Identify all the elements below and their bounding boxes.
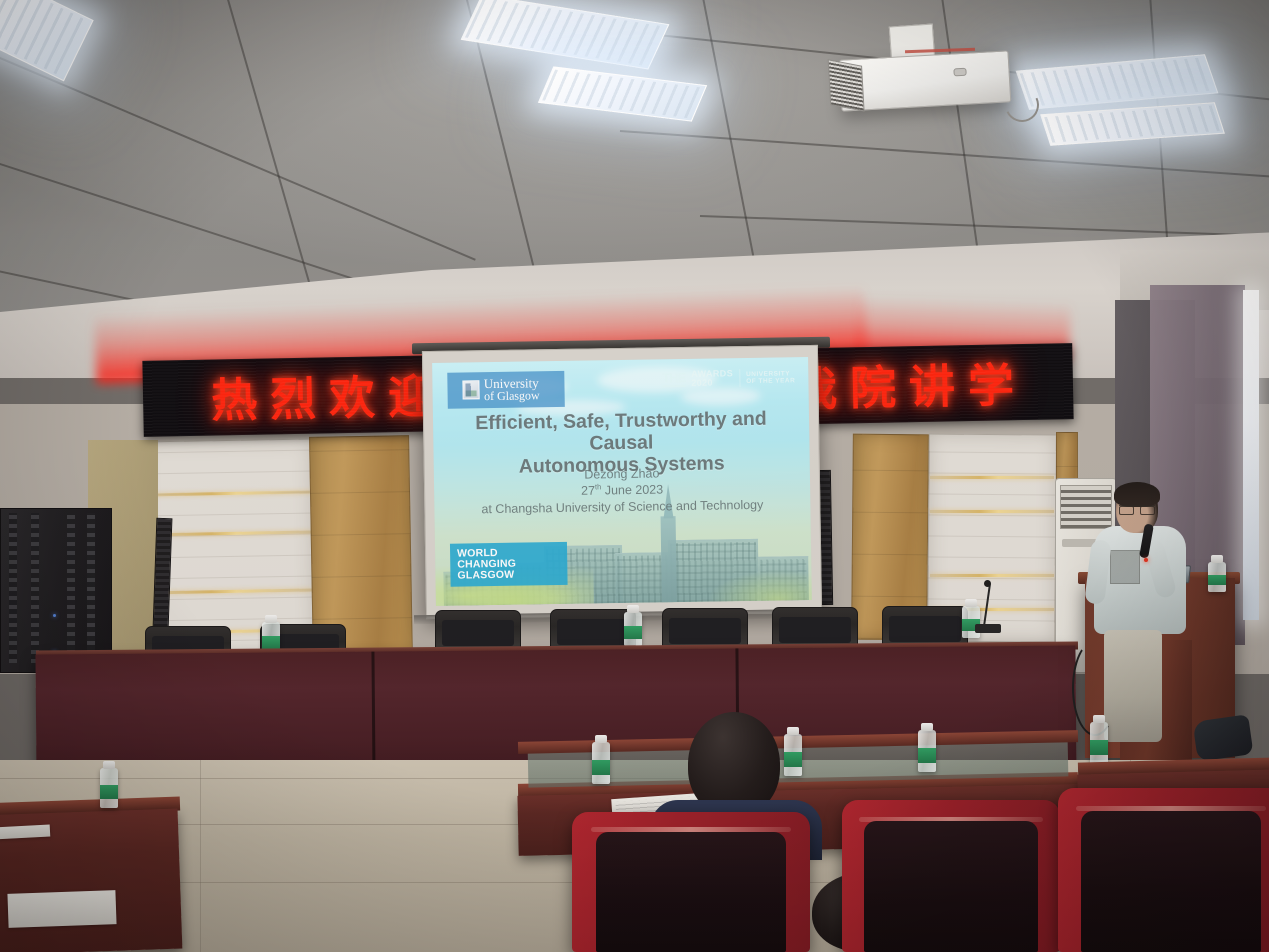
glasgow-crest-icon: [462, 381, 479, 400]
world-changing-glasgow-badge: WORLD CHANGING GLASGOW: [450, 542, 567, 587]
bottle-label: [918, 748, 936, 763]
bottle-cap: [787, 727, 799, 735]
bottle-cap: [965, 599, 977, 607]
the-awards-divider: [739, 369, 740, 387]
bottle-label: [784, 752, 802, 767]
rack-module-column: [87, 513, 95, 663]
slide-date-rest: June 2023: [601, 483, 663, 498]
bottle-cap: [1093, 715, 1105, 723]
gooseneck-microphone-head: [984, 580, 991, 587]
auditorium-seat[interactable]: [842, 800, 1060, 952]
rack-module-column: [31, 513, 39, 663]
slide-subtitle-block: Dezong Zhao 27th June 2023 at Changsha U…: [456, 463, 788, 518]
microphone-power-led: [1144, 558, 1148, 562]
presenter-hair: [1114, 482, 1160, 507]
university-of-glasgow-logo: University of Glasgow: [447, 371, 564, 409]
projector-vent-grille: [828, 59, 865, 111]
the-awards-mark: THE: [662, 371, 685, 387]
presenter-glasses: [1119, 505, 1155, 512]
slide-date-day: 27: [581, 484, 595, 498]
slide-title-line1: Efficient, Safe, Trustworthy and Causal: [448, 407, 795, 457]
presentation-slide: University of Glasgow THE AWARDS 2020 UN…: [432, 357, 812, 606]
water-bottle[interactable]: [784, 734, 802, 776]
the-awards-logo: THE AWARDS 2020 UNIVERSITY OF THE YEAR: [662, 368, 795, 389]
wall-gold-accent: [930, 476, 1054, 479]
seat-backrest: [864, 821, 1038, 952]
lecture-hall-photo: 热烈欢迎 我院讲学: [0, 0, 1269, 952]
seat-backrest: [596, 832, 786, 952]
rack-module-column: [67, 513, 75, 663]
bottle-cap: [1211, 555, 1223, 563]
water-bottle[interactable]: [592, 742, 610, 784]
bottle-label: [262, 636, 280, 648]
led-banner-text-right: 我院讲学: [790, 349, 1027, 420]
led-banner-text-left: 热烈欢迎: [210, 360, 447, 431]
floor-tile-seam: [200, 760, 201, 952]
university-of-the-year-text: UNIVERSITY OF THE YEAR: [746, 370, 795, 385]
desk-paper-shelf[interactable]: [7, 890, 116, 928]
rack-status-led: [53, 614, 56, 617]
bottle-label: [1208, 575, 1226, 586]
seat-backrest: [1081, 811, 1262, 952]
presenter-bag[interactable]: [1192, 714, 1253, 761]
wall-gold-accent: [930, 510, 1054, 513]
bottle-cap: [921, 723, 933, 731]
bottle-label: [100, 785, 118, 799]
uoty-line2: OF THE YEAR: [746, 378, 795, 386]
av-equipment-rack: [0, 508, 112, 673]
wall-gold-accent: [930, 574, 1054, 577]
bottle-cap: [595, 735, 607, 743]
rack-module-column: [9, 513, 17, 663]
auditorium-seat[interactable]: [572, 812, 810, 952]
presenter-shirt-graphic: [1110, 550, 1140, 584]
bottle-cap: [103, 761, 115, 769]
window-daylight-gap: [1243, 290, 1259, 620]
water-bottle[interactable]: [1208, 562, 1226, 592]
the-awards-text: AWARDS 2020: [691, 369, 733, 389]
bottle-cap: [627, 605, 639, 613]
water-bottle[interactable]: [100, 768, 118, 808]
bottle-label: [592, 760, 610, 775]
bottle-label: [1090, 740, 1108, 755]
auditorium-seat[interactable]: [1058, 788, 1269, 952]
gooseneck-microphone-base: [975, 624, 1001, 633]
water-bottle[interactable]: [1090, 722, 1108, 764]
water-bottle[interactable]: [962, 606, 980, 638]
the-awards-line2: 2020: [691, 379, 733, 389]
bottle-cap: [265, 615, 277, 623]
bottle-label: [624, 626, 642, 638]
wcg-line3: GLASGOW: [457, 569, 560, 582]
water-bottle[interactable]: [918, 730, 936, 772]
water-bottle[interactable]: [624, 612, 642, 646]
projector-lens: [953, 68, 966, 77]
projection-screen: University of Glasgow THE AWARDS 2020 UN…: [422, 345, 822, 619]
ceiling-projector: [839, 50, 1012, 111]
glasgow-logo-text: University of Glasgow: [484, 376, 540, 402]
glasgow-logo-line2: of Glasgow: [484, 390, 540, 403]
